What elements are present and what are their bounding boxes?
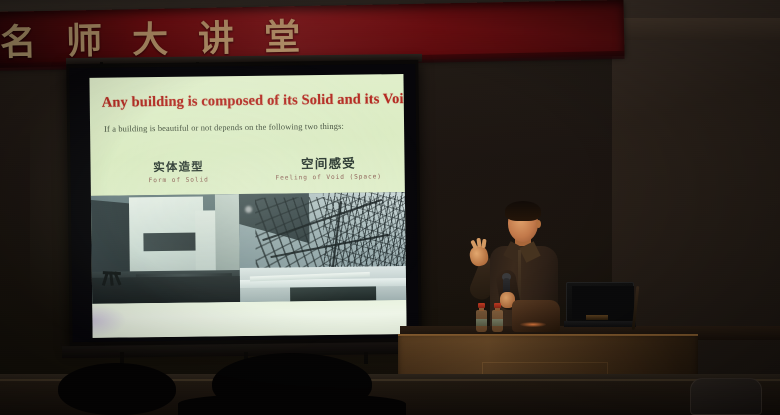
projection-screen: Any building is composed of its Solid an… bbox=[66, 60, 421, 346]
slide-label-void-cn: 空间感受 bbox=[258, 152, 398, 173]
laptop-indicator-glow bbox=[586, 315, 608, 320]
speaker-finger bbox=[481, 239, 486, 248]
laptop bbox=[564, 282, 636, 330]
slide-label-void-en: Feeling of Void (Space) bbox=[259, 173, 399, 182]
slide-photo-solid bbox=[91, 194, 240, 304]
wall-ledge bbox=[612, 18, 780, 40]
water-bottle bbox=[492, 304, 503, 332]
chair bbox=[690, 378, 762, 415]
screen-bar-clip bbox=[364, 352, 368, 364]
banner-char-5: 堂 bbox=[264, 8, 303, 61]
desk-light-reflection bbox=[520, 322, 546, 327]
water-bottle bbox=[476, 304, 487, 332]
audience-head-silhouette bbox=[58, 363, 176, 415]
wall-right bbox=[612, 0, 780, 378]
photo-building-void-cut bbox=[143, 233, 199, 252]
bag bbox=[512, 300, 560, 332]
photo-building-block bbox=[91, 200, 134, 278]
presentation-slide: Any building is composed of its Solid an… bbox=[89, 74, 406, 338]
speaker-ear bbox=[536, 220, 541, 228]
photo-building-block bbox=[215, 194, 240, 280]
banner-char-3: 大 bbox=[132, 11, 171, 64]
photo-lens-glare bbox=[245, 206, 252, 213]
bottle-label bbox=[492, 319, 503, 326]
photo-sculpture bbox=[102, 269, 122, 285]
photo-void-opening bbox=[290, 286, 376, 301]
banner-char-1: 名 bbox=[0, 13, 39, 66]
slide-label-solid-en: Form of Solid bbox=[119, 176, 239, 184]
slide-label-void: 空间感受 Feeling of Void (Space) bbox=[258, 152, 398, 182]
bottle-cap bbox=[478, 303, 485, 308]
lecture-hall-scene: 名 师 大 讲 堂 Any building is composed of it… bbox=[0, 0, 780, 415]
slide-photo-void bbox=[239, 192, 406, 302]
bottle-cap bbox=[494, 303, 501, 308]
slide-title: Any building is composed of its Solid an… bbox=[102, 91, 396, 112]
banner-char-4: 讲 bbox=[198, 9, 237, 62]
laptop-hinge bbox=[564, 321, 636, 327]
slide-label-solid: 实体造型 Form of Solid bbox=[118, 158, 238, 184]
bottle-label bbox=[476, 319, 487, 326]
audience-shoulder-silhouette bbox=[178, 393, 406, 415]
slide-label-solid-cn: 实体造型 bbox=[118, 158, 238, 175]
banner-char-2: 师 bbox=[66, 12, 105, 65]
audience-head-silhouette bbox=[212, 353, 372, 415]
slide-bottom-band bbox=[92, 300, 406, 338]
speaker-hair bbox=[505, 201, 541, 221]
screen-frame-inner: Any building is composed of its Solid an… bbox=[69, 64, 418, 342]
slide-photo-row bbox=[91, 192, 406, 304]
slide-subtitle: If a building is beautiful or not depend… bbox=[104, 121, 396, 134]
